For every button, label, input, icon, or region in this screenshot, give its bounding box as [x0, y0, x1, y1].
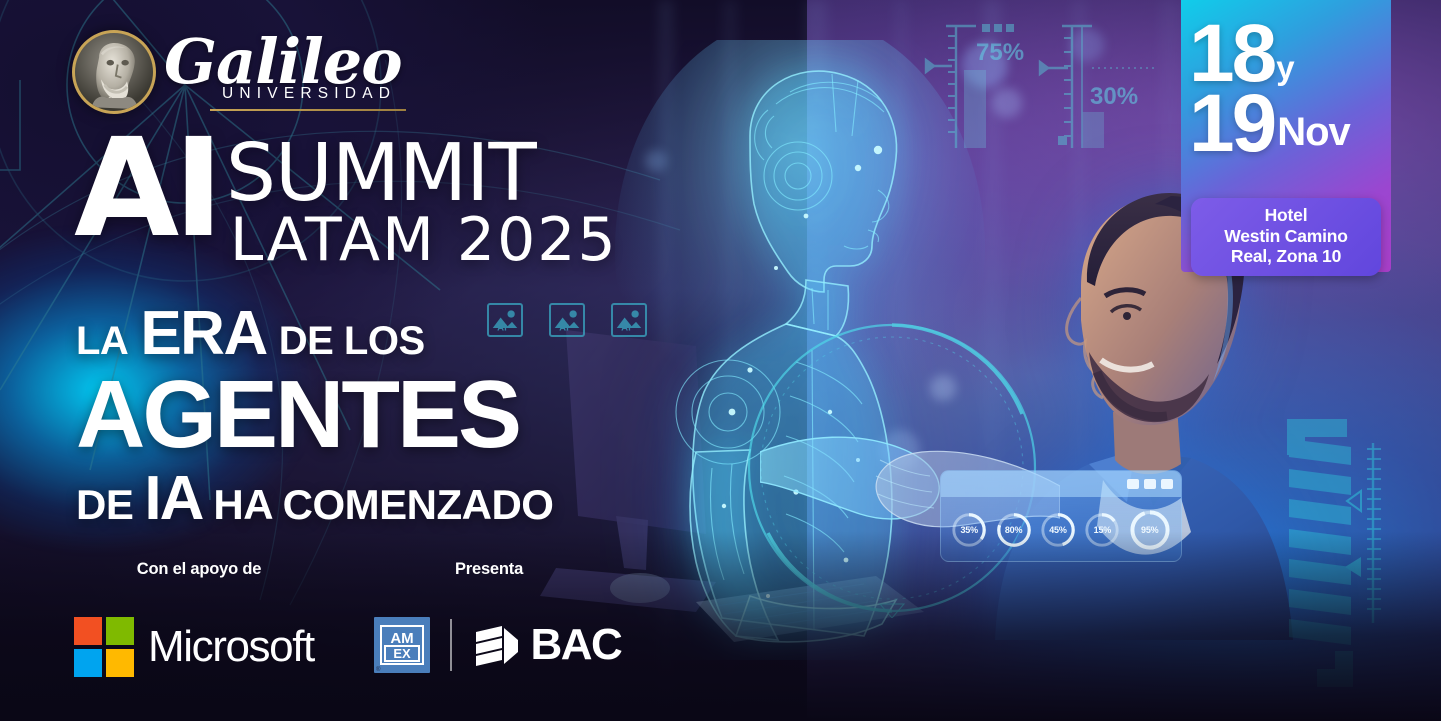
galileo-name: Galileo	[164, 33, 402, 90]
galileo-logo[interactable]: Galileo UNIVERSIDAD	[72, 30, 402, 114]
venue-line-1: Hotel	[1197, 205, 1375, 226]
bac-wordmark: BAC	[531, 620, 622, 670]
microsoft-squares-icon	[74, 617, 134, 677]
ai-image-icon: Ai	[549, 303, 585, 337]
tagline-ia: IA	[144, 463, 202, 534]
window-controls	[1127, 479, 1173, 489]
svg-text:Ai: Ai	[621, 323, 631, 334]
title-ai: AI	[74, 134, 218, 246]
event-date-panel: 18 y 19 Nov Hotel Westin Camino Real, Zo…	[1181, 0, 1391, 272]
amex-logo[interactable]: AM EX ®	[374, 617, 430, 673]
venue-badge: Hotel Westin Camino Real, Zona 10	[1191, 198, 1381, 276]
bar-gauge-30: 30%	[1030, 8, 1200, 158]
tagline-era: ERA	[140, 298, 266, 369]
bac-chevron-icon	[472, 622, 522, 668]
tagline-de-los: DE LOS	[279, 319, 425, 364]
microsoft-wordmark: Microsoft	[148, 622, 314, 672]
venue-line-2: Westin Camino	[1197, 226, 1375, 247]
hud-panel-titlebar	[941, 471, 1181, 497]
sponsors-section: Con el apoyo de Microsoft Presenta	[74, 560, 621, 677]
ai-image-icon: Ai	[611, 303, 647, 337]
title-latam: LATAM 2025	[230, 210, 618, 270]
support-label: Con el apoyo de	[74, 560, 324, 579]
tagline-agentes: AGENTES	[76, 371, 553, 459]
date-month: Nov	[1277, 112, 1350, 152]
event-tagline: LA ERA DE LOS AGENTES DE IA HA COMENZADO	[76, 298, 553, 534]
title-summit: SUMMIT	[226, 140, 618, 206]
tagline-ha-comenzado: HA COMENZADO	[213, 481, 553, 529]
bac-logo[interactable]: BAC	[472, 620, 622, 670]
event-title: AI SUMMIT LATAM 2025	[74, 134, 618, 270]
tagline-de: DE	[76, 481, 133, 529]
event-dates: 18 y 19 Nov	[1181, 0, 1391, 156]
amex-line-2: EX	[393, 646, 411, 661]
galileo-bust-icon	[72, 30, 156, 114]
bar-gauge-label: 30%	[1090, 83, 1138, 110]
date-day-1: 18	[1189, 22, 1274, 86]
svg-text:Ai: Ai	[559, 323, 569, 334]
galileo-subtitle: UNIVERSIDAD	[222, 85, 402, 103]
galileo-divider	[210, 109, 406, 111]
galileo-wordmark: Galileo UNIVERSIDAD	[164, 33, 402, 110]
microsoft-logo[interactable]: Microsoft	[74, 617, 374, 677]
sponsor-divider	[450, 619, 452, 671]
sponsor-support-group: Con el apoyo de Microsoft	[74, 560, 374, 677]
date-conjunction: y	[1276, 51, 1294, 84]
tagline-la: LA	[76, 319, 128, 364]
bar-gauge-label: 75%	[976, 39, 1024, 66]
venue-line-3: Real, Zona 10	[1197, 246, 1375, 267]
svg-text:®: ®	[376, 666, 381, 673]
ai-summit-banner: 75% 30% Ai Ai	[0, 0, 1441, 721]
amex-line-1: AM	[390, 630, 413, 647]
presents-label: Presenta	[374, 560, 604, 579]
date-day-2: 19	[1189, 92, 1274, 156]
sponsor-presents-group: Presenta AM EX ®	[374, 560, 621, 673]
